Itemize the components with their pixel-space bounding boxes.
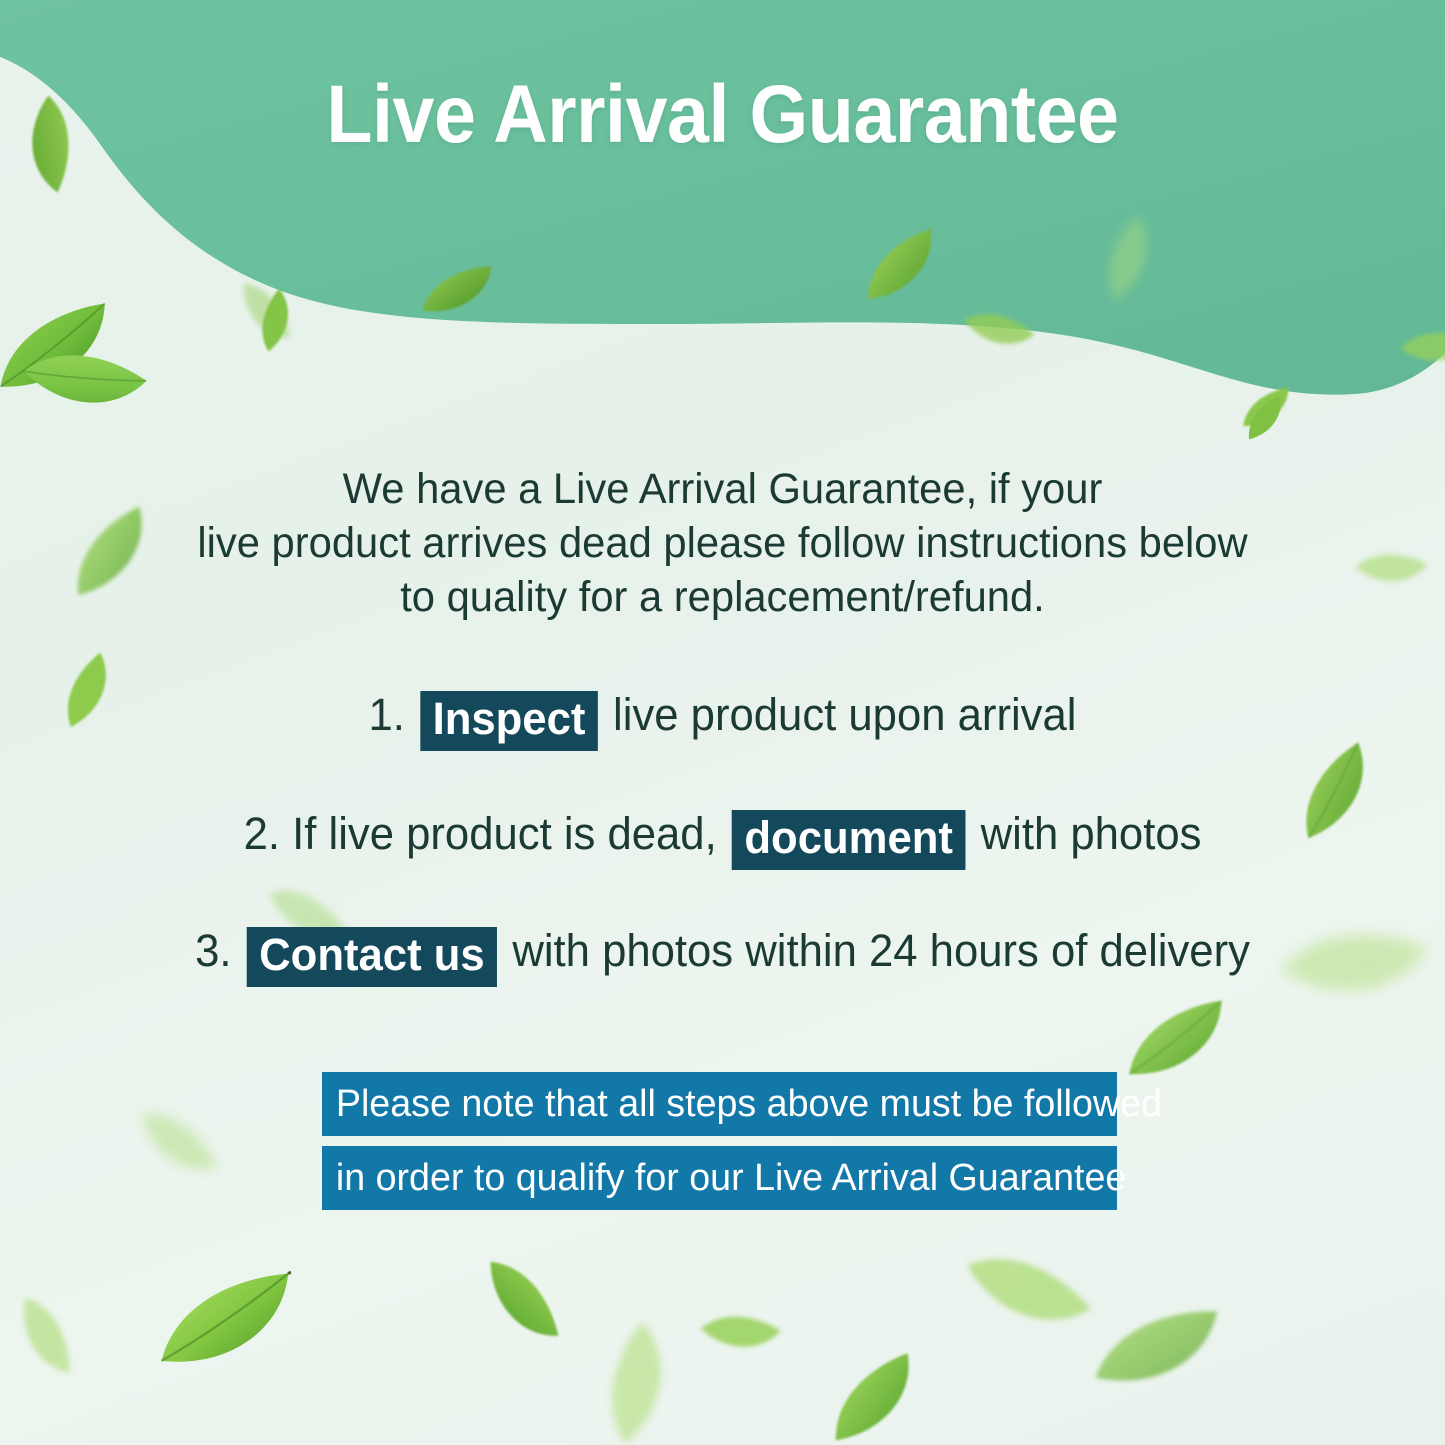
step-3-highlight: Contact us	[247, 927, 498, 987]
intro-paragraph: We have a Live Arrival Guarantee, if you…	[157, 462, 1287, 624]
intro-line-1: We have a Live Arrival Guarantee, if you…	[157, 462, 1287, 516]
content-area: We have a Live Arrival Guarantee, if you…	[0, 0, 1445, 1445]
note-line-2: in order to qualify for our Live Arrival…	[322, 1146, 1117, 1210]
note-line-1: Please note that all steps above must be…	[322, 1072, 1117, 1136]
step-2-number: 2.	[244, 808, 280, 859]
step-3: 3. Contact us with photos within 24 hour…	[22, 922, 1424, 987]
live-arrival-guarantee-poster: Live Arrival Guarantee	[0, 0, 1445, 1445]
intro-line-3: to quality for a replacement/refund.	[157, 570, 1287, 624]
step-2: 2. If live product is dead, document wit…	[22, 805, 1424, 870]
step-1-number: 1.	[369, 689, 405, 740]
step-2-highlight: document	[732, 810, 966, 870]
step-3-number: 3.	[195, 925, 231, 976]
step-3-after: with photos within 24 hours of delivery	[512, 925, 1250, 976]
step-2-before: If live product is dead,	[292, 808, 717, 859]
step-1: 1. Inspect live product upon arrival	[22, 686, 1424, 751]
step-2-after: with photos	[981, 808, 1202, 859]
intro-line-2: live product arrives dead please follow …	[157, 516, 1287, 570]
step-1-highlight: Inspect	[420, 691, 598, 751]
step-1-after: live product upon arrival	[613, 689, 1076, 740]
